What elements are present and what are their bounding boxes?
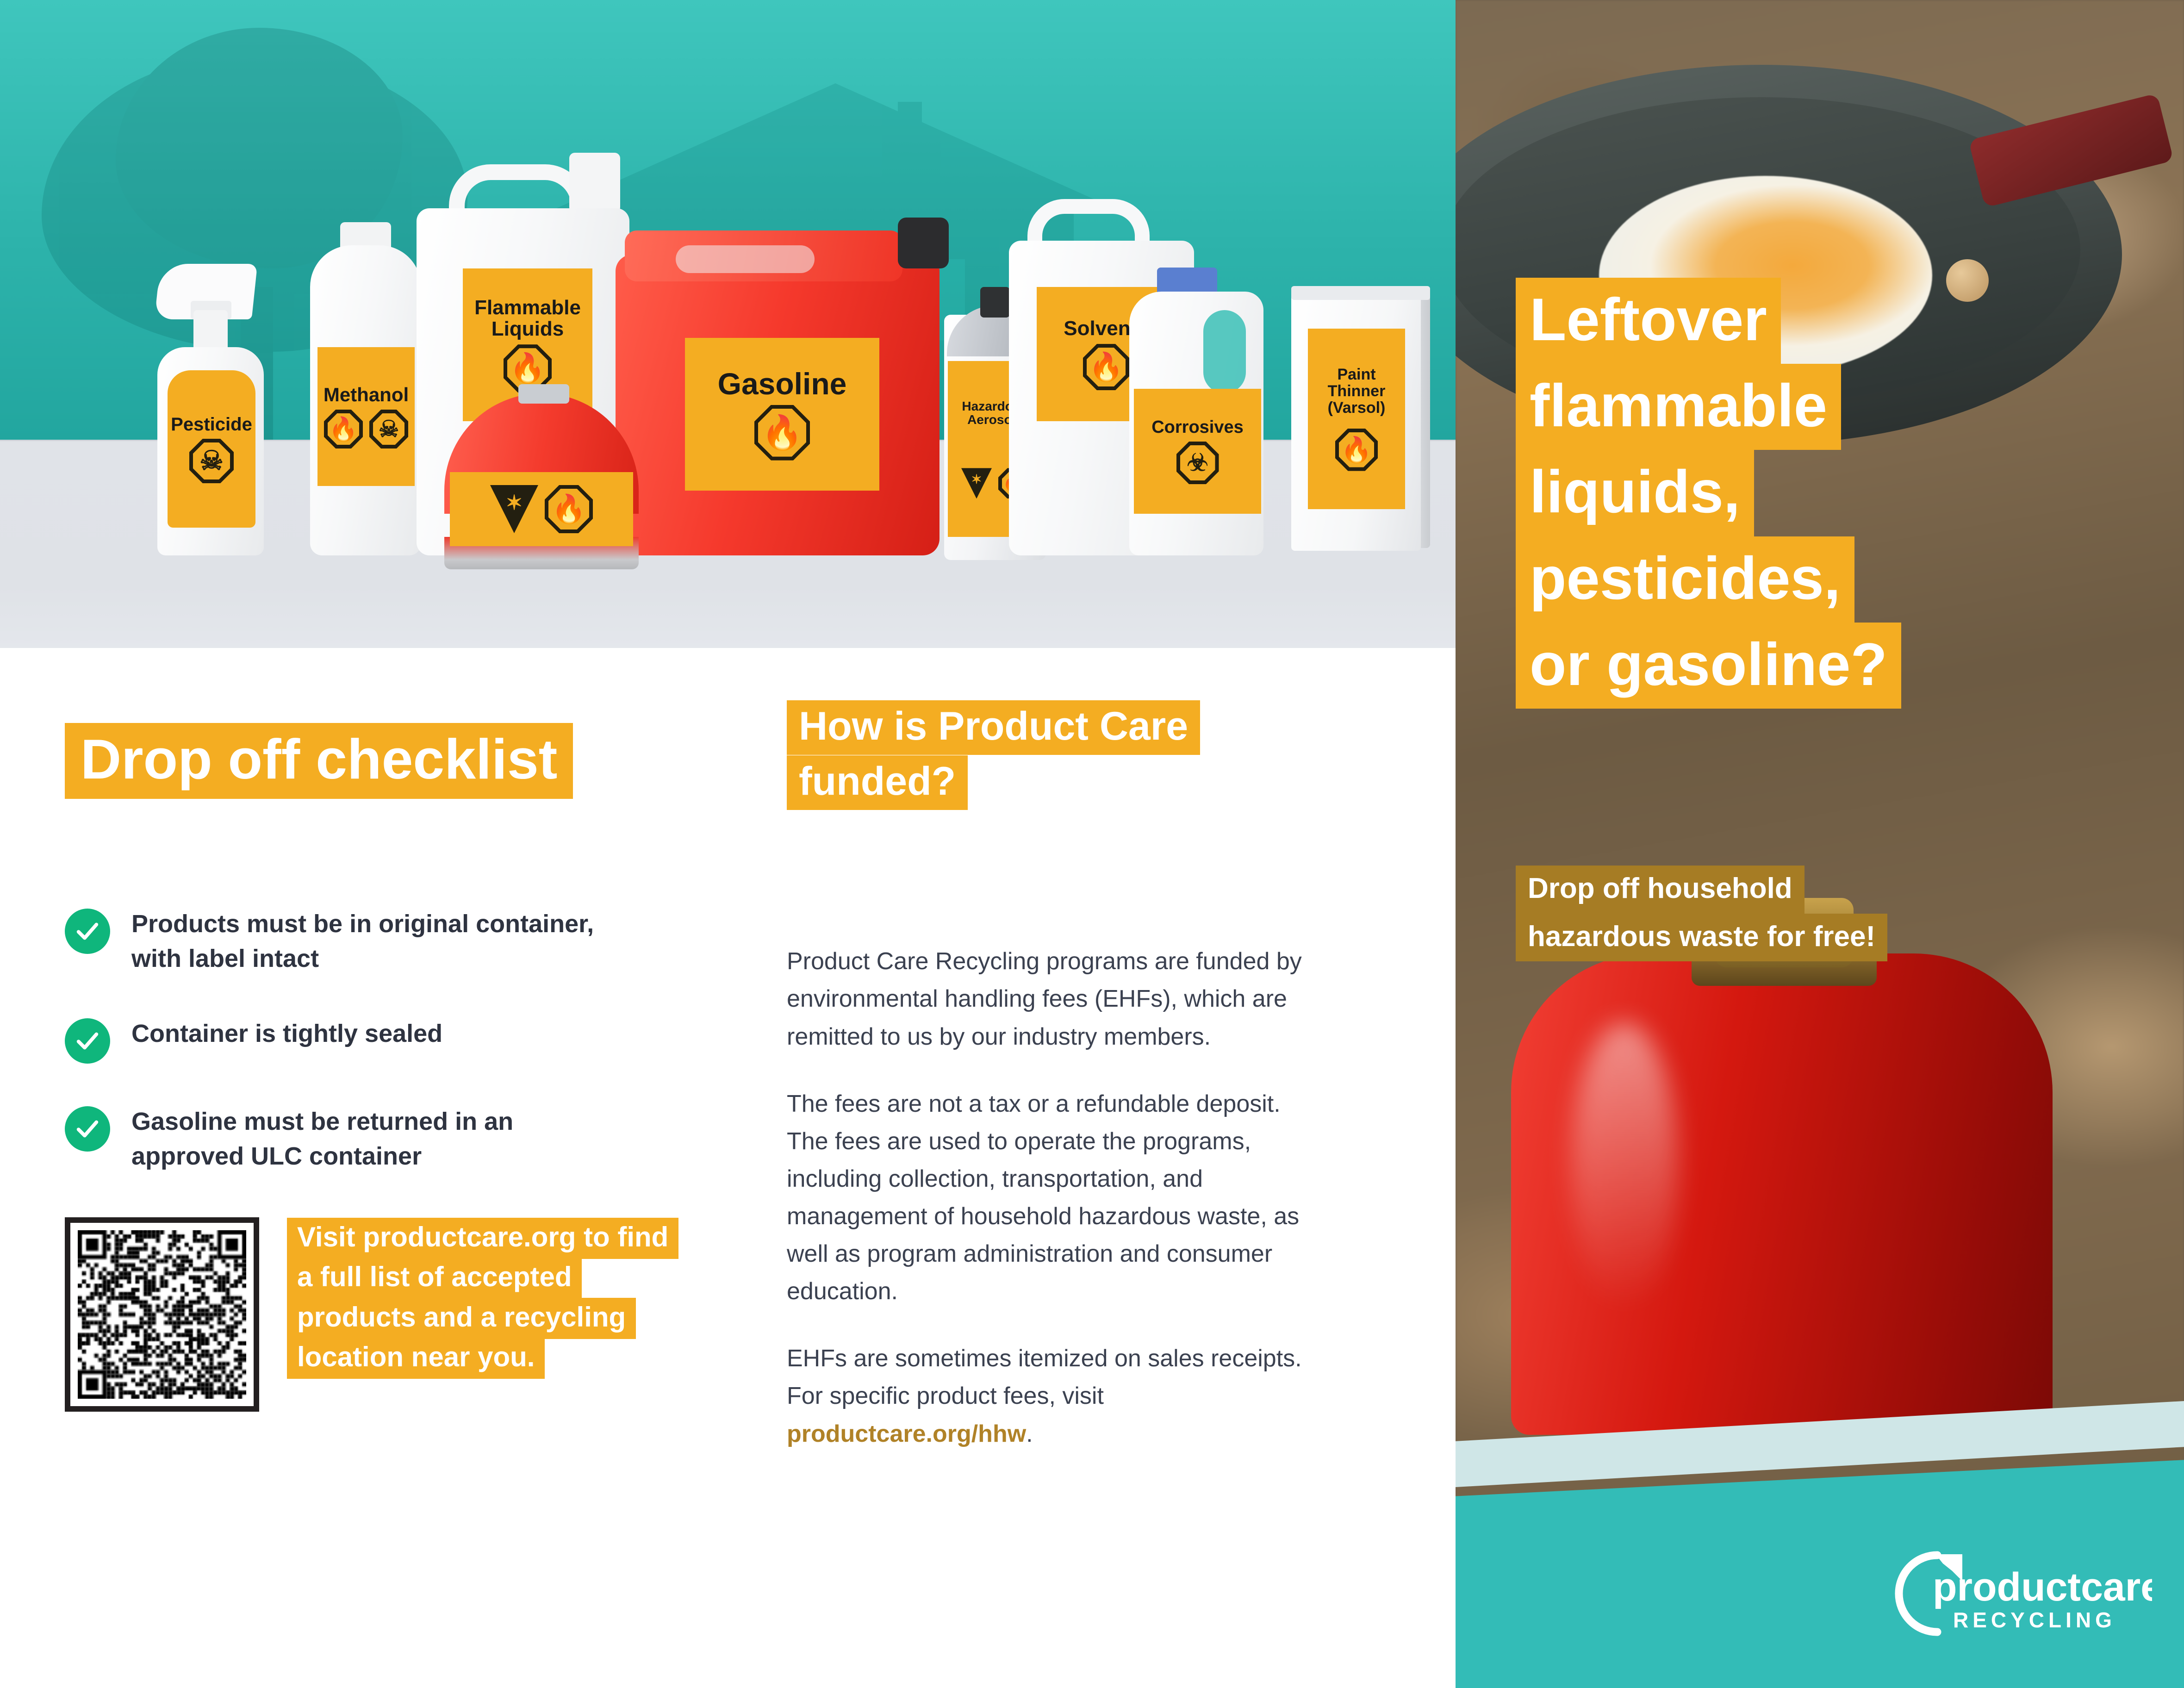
funding-paragraph-2: The fees are not a tax or a refundable d… — [787, 1085, 1319, 1311]
product-butane-canister: ✶ 🔥 — [444, 384, 639, 569]
brochure-page: Pesticide ☠ Methanol 🔥 — [0, 0, 2184, 1688]
flame-hazard-icon: 🔥 — [754, 405, 810, 461]
hazard-symbols: ☠ — [189, 439, 234, 483]
funding-paragraph-3: EHFs are sometimes itemized on sales rec… — [787, 1340, 1319, 1452]
logo-mark: productcare RECYCLING — [1893, 1541, 2152, 1648]
explosion-hazard-icon: ✶ — [490, 485, 538, 533]
aerosol-nozzle — [980, 287, 1010, 318]
product-gasoline: Gasoline 🔥 — [616, 222, 949, 555]
label-text-line3: (Varsol) — [1328, 400, 1386, 417]
label-methanol: Methanol 🔥 ☠ — [317, 347, 415, 486]
bottle-cap — [1157, 268, 1217, 295]
hazard-symbols: 🔥 — [1335, 429, 1378, 471]
headline-line-4: pesticides, — [1516, 536, 1854, 623]
tin-lid — [1291, 286, 1430, 300]
label-text: Methanol — [324, 385, 409, 405]
canister-valve-ring — [518, 384, 569, 404]
headline-line-3: liquids, — [1516, 450, 1754, 536]
flame-hazard-icon: 🔥 — [1083, 344, 1129, 390]
headline-line-5: or gasoline? — [1516, 623, 1901, 709]
qr-and-visit-block: Visit productcare.org to find a full lis… — [65, 1217, 671, 1412]
gas-can-nozzle — [898, 218, 949, 268]
funding-body: Product Care Recycling programs are fund… — [787, 943, 1356, 1452]
funding-heading: How is Product Care funded? — [787, 699, 1277, 809]
red-fuel-canister — [1511, 898, 2053, 1435]
hazard-symbols: ☣ — [1176, 442, 1219, 484]
flame-hazard-icon: 🔥 — [1335, 429, 1378, 471]
label-gasoline: Gasoline 🔥 — [685, 338, 879, 491]
list-item: Products must be in original container, … — [65, 907, 690, 976]
list-item: Container is tightly sealed — [65, 1016, 690, 1064]
flame-hazard-icon: 🔥 — [545, 485, 593, 533]
checklist-items: Products must be in original container, … — [65, 907, 690, 1173]
hazard-symbols: 🔥 ☠ — [324, 410, 408, 448]
label-text-line1: Paint — [1337, 367, 1375, 383]
explosion-hazard-icon: ✶ — [961, 468, 992, 498]
list-item-label: Gasoline must be returned in an approved… — [131, 1104, 594, 1173]
cover-headline: Leftover flammable liquids, pesticides, … — [1516, 278, 2117, 709]
label-text: Corrosives — [1151, 418, 1244, 437]
subhead-line-2: hazardous waste for free! — [1516, 914, 1887, 962]
left-panel: Pesticide ☠ Methanol 🔥 — [0, 0, 1456, 1688]
label-text-line2: Liquids — [492, 318, 564, 340]
label-text: Gasoline — [718, 368, 847, 400]
subhead-line-1: Drop off household — [1516, 866, 1804, 914]
label-butane: ✶ 🔥 — [450, 472, 633, 546]
qr-code-canvas[interactable] — [78, 1230, 246, 1399]
qr-code[interactable] — [65, 1217, 259, 1412]
headline-line-2: flammable — [1516, 364, 1841, 450]
checklist-heading: Drop off checklist — [65, 722, 690, 797]
check-icon — [65, 909, 110, 954]
hero-product-photo: Pesticide ☠ Methanol 🔥 — [0, 0, 1456, 648]
cover-subhead: Drop off household hazardous waste for f… — [1516, 866, 2127, 961]
label-text-line1: Flammable — [474, 297, 581, 318]
productcare-hhw-link[interactable]: productcare.org/hhw — [787, 1420, 1026, 1447]
bottle-handle-hole — [1203, 310, 1246, 393]
hazard-symbols: 🔥 — [1083, 344, 1129, 390]
content-area: Drop off checklist Products must be in o… — [0, 648, 1456, 1688]
product-methanol: Methanol 🔥 ☠ — [296, 204, 435, 555]
funding-paragraph-1: Product Care Recycling programs are fund… — [787, 943, 1319, 1055]
hazard-symbols: ✶ 🔥 — [490, 485, 593, 533]
funding-heading-text: How is Product Care funded? — [787, 700, 1200, 810]
label-text-line2: Thinner — [1328, 383, 1386, 400]
productcare-recycling-logo: productcare RECYCLING — [1893, 1541, 2152, 1648]
list-item-label: Container is tightly sealed — [131, 1016, 442, 1051]
cover-panel: Leftover flammable liquids, pesticides, … — [1456, 0, 2184, 1688]
hazard-symbols: 🔥 — [754, 405, 810, 461]
headline-line-1: Leftover — [1516, 278, 1781, 364]
product-corrosives: Corrosives ☣ — [1129, 250, 1268, 555]
label-paint-thinner: Paint Thinner (Varsol) 🔥 — [1308, 329, 1405, 509]
jug-spout — [569, 153, 620, 213]
canister-highlight — [1571, 1023, 1678, 1310]
label-text: Pesticide — [171, 415, 252, 434]
check-icon — [65, 1106, 110, 1152]
product-paint-thinner: Paint Thinner (Varsol) 🔥 — [1291, 278, 1430, 555]
checklist-column: Drop off checklist Products must be in o… — [65, 722, 690, 1214]
flame-hazard-icon: 🔥 — [324, 410, 363, 448]
list-item-label: Products must be in original container, … — [131, 907, 594, 976]
funding-paragraph-3-prefix: EHFs are sometimes itemized on sales rec… — [787, 1345, 1302, 1409]
check-icon — [65, 1018, 110, 1064]
skull-hazard-icon: ☠ — [189, 439, 234, 483]
label-pesticide: Pesticide ☠ — [168, 370, 255, 528]
funding-paragraph-3-suffix: . — [1026, 1420, 1033, 1447]
gas-can-grip — [676, 245, 815, 273]
visit-callout-text: Visit productcare.org to find a full lis… — [287, 1218, 678, 1379]
logo-tagline: RECYCLING — [1953, 1608, 2116, 1632]
product-pesticide: Pesticide ☠ — [139, 231, 278, 555]
logo-wordmark: productcare — [1933, 1565, 2152, 1609]
skull-hazard-icon: ☠ — [369, 410, 408, 448]
label-corrosives: Corrosives ☣ — [1134, 389, 1261, 514]
corrosion-hazard-icon: ☣ — [1176, 442, 1219, 484]
visit-callout: Visit productcare.org to find a full lis… — [287, 1217, 671, 1377]
funding-column: How is Product Care funded? Product Care… — [787, 699, 1356, 1482]
checklist-heading-text: Drop off checklist — [65, 723, 573, 799]
list-item: Gasoline must be returned in an approved… — [65, 1104, 690, 1173]
